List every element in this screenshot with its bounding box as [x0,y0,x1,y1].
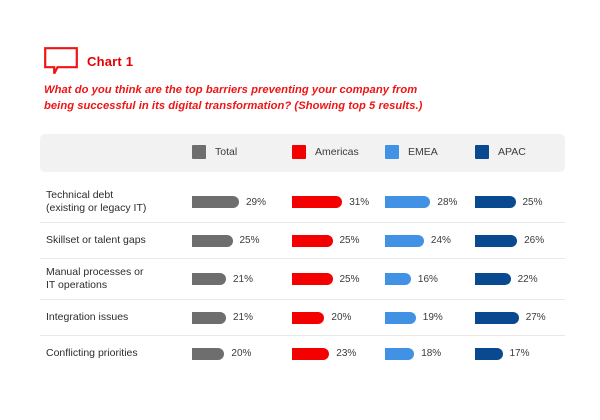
bar-cell-americas: 31% [292,196,369,208]
chart-question: What do you think are the top barriers p… [44,83,444,114]
bar-value-apac: 25% [523,197,543,208]
chart-badge-label: Chart 1 [87,54,133,69]
bar-cell-emea: 18% [385,348,441,360]
chart-badge: Chart 1 [44,47,133,75]
bar-emea [385,273,411,285]
legend-swatch-total [192,145,206,159]
bar-cell-emea: 19% [385,312,443,324]
bar-apac [475,348,503,360]
bar-total [192,235,233,247]
bar-value-americas: 25% [340,274,360,285]
bar-americas [292,348,329,360]
bar-value-apac: 17% [510,348,530,359]
bar-value-total: 21% [233,274,253,285]
legend-item-emea[interactable]: EMEA [385,145,438,159]
bar-cell-total: 21% [192,312,253,324]
bar-americas [292,235,333,247]
bar-americas [292,196,342,208]
bar-value-total: 29% [246,197,266,208]
bar-value-americas: 25% [340,235,360,246]
bar-total [192,312,226,324]
bar-value-emea: 16% [418,274,438,285]
bar-total [192,348,224,360]
bar-value-apac: 27% [526,312,546,323]
bar-value-americas: 31% [349,197,369,208]
legend-swatch-americas [292,145,306,159]
bar-cell-emea: 16% [385,273,438,285]
chart-row: Technical debt(existing or legacy IT)29%… [40,182,565,223]
bar-cell-total: 25% [192,235,260,247]
row-bars: 25%25%24%26% [40,223,565,258]
bar-value-americas: 20% [331,312,351,323]
legend-swatch-emea [385,145,399,159]
bar-cell-americas: 23% [292,348,356,360]
bar-emea [385,196,430,208]
legend-item-americas[interactable]: Americas [292,145,359,159]
bar-cell-americas: 25% [292,273,360,285]
bar-apac [475,312,519,324]
chart-row: Manual processes orIT operations21%25%16… [40,259,565,300]
bar-cell-americas: 20% [292,312,351,324]
bar-cell-total: 29% [192,196,266,208]
legend-label-emea: EMEA [408,146,438,158]
chart-legend: Total Americas EMEA APAC [40,134,565,172]
bar-cell-apac: 25% [475,196,543,208]
bar-total [192,273,226,285]
bar-apac [475,273,511,285]
bar-value-apac: 22% [518,274,538,285]
bar-americas [292,312,324,324]
bar-cell-apac: 22% [475,273,538,285]
bar-cell-total: 21% [192,273,253,285]
bar-total [192,196,239,208]
bar-value-apac: 26% [524,235,544,246]
legend-label-total: Total [215,146,237,158]
legend-item-apac[interactable]: APAC [475,145,526,159]
speech-bubble-icon [44,47,78,75]
chart-row: Conflicting priorities20%23%18%17% [40,336,565,371]
legend-label-americas: Americas [315,146,359,158]
bar-value-total: 20% [231,348,251,359]
legend-swatch-apac [475,145,489,159]
chart-row: Skillset or talent gaps25%25%24%26% [40,223,565,259]
bar-value-americas: 23% [336,348,356,359]
legend-item-total[interactable]: Total [192,145,237,159]
row-bars: 20%23%18%17% [40,336,565,371]
bar-value-emea: 28% [437,197,457,208]
bar-emea [385,348,414,360]
bar-cell-americas: 25% [292,235,360,247]
legend-label-apac: APAC [498,146,526,158]
chart-page: Chart 1 What do you think are the top ba… [0,0,600,420]
bar-apac [475,196,516,208]
row-bars: 21%20%19%27% [40,300,565,335]
bar-cell-total: 20% [192,348,251,360]
bar-cell-apac: 27% [475,312,546,324]
bar-cell-apac: 26% [475,235,544,247]
bar-americas [292,273,333,285]
row-bars: 29%31%28%25% [40,182,565,222]
bar-cell-emea: 28% [385,196,457,208]
bar-emea [385,312,416,324]
bar-value-emea: 19% [423,312,443,323]
chart-rows: Technical debt(existing or legacy IT)29%… [40,182,565,371]
bar-value-total: 25% [240,235,260,246]
bar-value-total: 21% [233,312,253,323]
bar-cell-emea: 24% [385,235,451,247]
bar-emea [385,235,424,247]
bar-apac [475,235,517,247]
bar-cell-apac: 17% [475,348,530,360]
row-bars: 21%25%16%22% [40,259,565,299]
bar-value-emea: 18% [421,348,441,359]
bar-value-emea: 24% [431,235,451,246]
chart-row: Integration issues21%20%19%27% [40,300,565,336]
